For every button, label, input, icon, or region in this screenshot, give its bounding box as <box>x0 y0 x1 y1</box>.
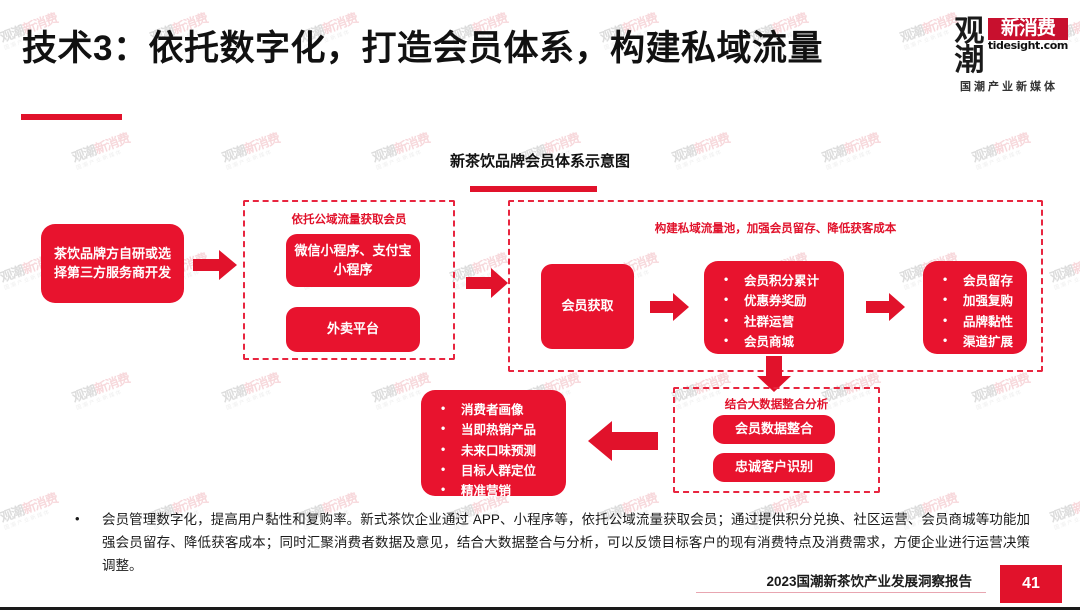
consumer-insight-box: 消费者画像 当即热销产品 未来口味预测 目标人群定位 精准营销 <box>421 390 566 496</box>
list-item: 会员留存 <box>941 271 1015 291</box>
arrow-operate-to-result <box>866 293 905 321</box>
list-item: 精准营销 <box>439 481 554 501</box>
list-item: 加强复购 <box>941 291 1015 311</box>
member-acquire-box: 会员获取 <box>541 264 634 349</box>
diagram-title-underline-rule <box>470 186 597 192</box>
list-item: 社群运营 <box>722 312 832 332</box>
member-result-box: 会员留存 加强复购 品牌黏性 渠道扩展 <box>923 261 1027 354</box>
list-item: 优惠券奖励 <box>722 291 832 311</box>
member-operation-box: 会员积分累计 优惠券奖励 社群运营 会员商城 <box>704 261 844 354</box>
list-item: 消费者画像 <box>439 400 554 420</box>
big-data-box-1: 会员数据整合 <box>713 415 835 444</box>
big-data-box-2: 忠诚客户识别 <box>713 453 835 482</box>
arrow-public-to-private <box>466 268 508 298</box>
body-note-text: 会员管理数字化，提高用户黏性和复购率。新式茶饮企业通过 APP、小程序等，依托公… <box>70 508 1030 578</box>
list-item: 当即热销产品 <box>439 420 554 440</box>
public-traffic-group-label: 依托公域流量获取会员 <box>243 211 455 227</box>
arrow-bigdata-to-insight <box>588 421 658 461</box>
list-item: 渠道扩展 <box>941 332 1015 352</box>
list-item: 品牌黏性 <box>941 312 1015 332</box>
body-note: • 会员管理数字化，提高用户黏性和复购率。新式茶饮企业通过 APP、小程序等，依… <box>70 508 1030 578</box>
body-note-bullet: • <box>75 508 80 530</box>
list-item: 会员商城 <box>722 332 832 352</box>
member-operation-list: 会员积分累计 优惠券奖励 社群运营 会员商城 <box>722 271 832 352</box>
origin-box: 茶饮品牌方自研或选择第三方服务商开发 <box>41 224 184 303</box>
consumer-insight-list: 消费者画像 当即热销产品 未来口味预测 目标人群定位 精准营销 <box>439 400 554 501</box>
list-item: 未来口味预测 <box>439 441 554 461</box>
slide-canvas: 观潮新消费国潮产业新媒体观潮新消费国潮产业新媒体观潮新消费国潮产业新媒体观潮新消… <box>0 0 1080 610</box>
big-data-group-label: 结合大数据整合分析 <box>673 396 880 412</box>
list-item: 目标人群定位 <box>439 461 554 481</box>
private-traffic-group-label: 构建私域流量池，加强会员留存、降低获客成本 <box>508 220 1043 236</box>
diagram-title: 新茶饮品牌会员体系示意图 <box>0 150 1080 171</box>
arrow-origin-to-public <box>193 250 237 280</box>
list-item: 会员积分累计 <box>722 271 832 291</box>
member-result-list: 会员留存 加强复购 品牌黏性 渠道扩展 <box>941 271 1015 352</box>
public-traffic-box-2: 外卖平台 <box>286 307 420 352</box>
arrow-acquire-to-operate <box>650 293 689 321</box>
public-traffic-box-1: 微信小程序、支付宝小程序 <box>286 234 420 287</box>
